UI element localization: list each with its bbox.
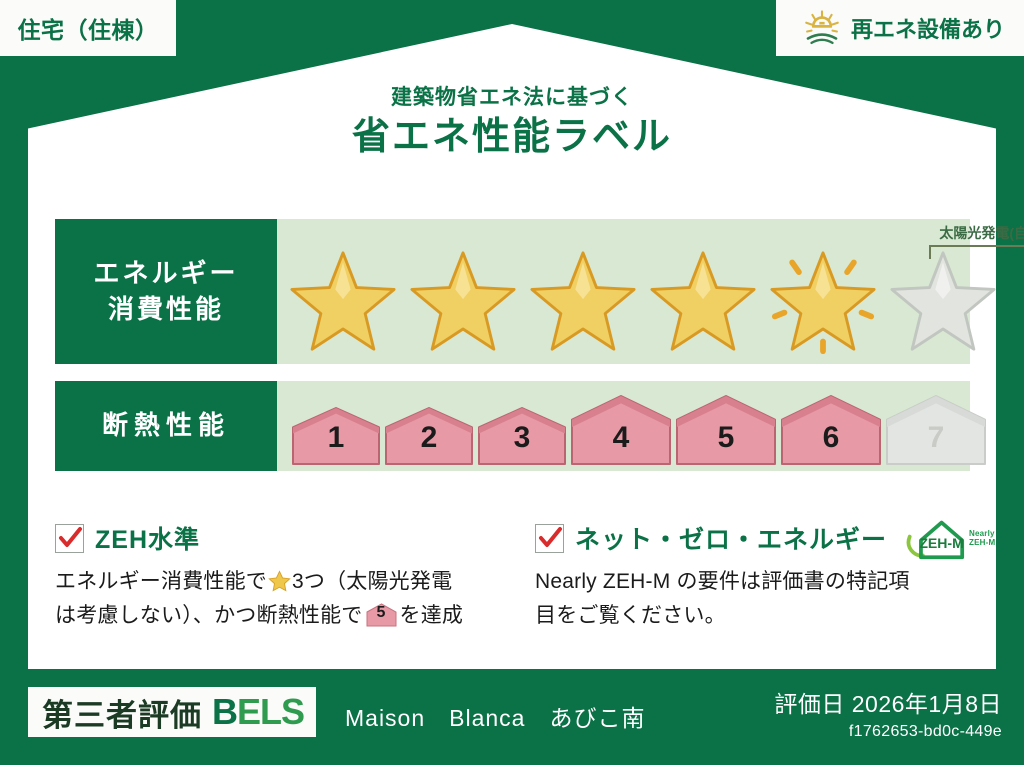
title-block: 建築物省エネ法に基づく 省エネ性能ラベル — [0, 86, 1024, 159]
insulation-performance-body: 1234567 — [277, 381, 970, 471]
solar-sun-icon — [801, 7, 843, 49]
star-rating — [277, 246, 970, 358]
insulation-level-active: 1 — [291, 405, 381, 467]
zeh-m-logo-subtext-line2: ZEH-M — [969, 538, 995, 547]
energy-performance-label-line2: 消費性能 — [108, 292, 224, 327]
energy-performance-row: エネルギー 消費性能 太陽光発電(自家消費)分 — [55, 219, 970, 364]
criteria-zeh-body-part1: エネルギー消費性能で — [55, 570, 267, 593]
zeh-m-house-icon: ZEH-M — [904, 516, 966, 561]
star-filled — [527, 249, 639, 355]
insulation-level-active: 4 — [570, 393, 672, 467]
inline-house-badge: 5 — [366, 603, 397, 627]
energy-performance-label-line1: エネルギー — [93, 256, 238, 291]
criteria-zeh: ZEH水準 エネルギー消費性能で 3つ（太陽光発電 は考慮しない）、かつ断熱性能… — [55, 520, 525, 633]
badge-building-type-label: 住宅（住棟） — [18, 11, 159, 45]
bels-letters-els: ELS — [237, 691, 304, 732]
insulation-level-active: 5 — [675, 393, 777, 467]
bels-letter-b: B — [212, 691, 237, 732]
bels-badge: 第三者評価 BELS — [28, 687, 316, 737]
criteria-zehm-body-line2: 目をご覧ください。 — [535, 604, 726, 627]
star-filled-solar — [767, 249, 879, 355]
insulation-level-number: 1 — [291, 421, 381, 455]
criteria-zehm-title: ネット・ゼロ・エネルギー — [575, 520, 887, 556]
solar-note-label: 太陽光発電(自家消費)分 — [889, 223, 1024, 243]
insulation-level-active: 6 — [780, 393, 882, 467]
insulation-performance-label: 断熱性能 — [55, 381, 277, 471]
insulation-level-inactive: 7 — [885, 393, 987, 467]
star-empty — [887, 249, 999, 355]
badge-building-type: 住宅（住棟） — [0, 0, 176, 56]
criteria-zehm-header: ネット・ゼロ・エネルギー ZEH-M Nearly ZEH-M — [535, 520, 1005, 556]
svg-text:ZEH-M: ZEH-M — [919, 534, 963, 550]
evaluation-date: 評価日 2026年1月8日 — [774, 685, 1002, 719]
insulation-level-number: 4 — [570, 421, 672, 455]
insulation-performance-row: 断熱性能 1234567 — [55, 381, 970, 471]
checkbox-zehm[interactable] — [535, 524, 564, 553]
criteria-zehm-body-line1: Nearly ZEH-M の要件は評価書の特記項 — [535, 570, 910, 593]
page-title: 省エネ性能ラベル — [0, 117, 1024, 159]
criteria-zeh-body-part3: は考慮しない）、かつ断熱性能で — [55, 604, 363, 627]
property-name: Maison Blanca あびこ南 — [345, 699, 645, 733]
evaluation-info: 評価日 2026年1月8日 f1762653-bd0c-449e — [774, 685, 1002, 741]
evaluation-id: f1762653-bd0c-449e — [774, 723, 1002, 741]
criteria-zeh-body-part2: 3つ（太陽光発電 — [292, 570, 452, 593]
zeh-m-logo: ZEH-M Nearly ZEH-M — [904, 516, 995, 561]
criteria-zehm-body: Nearly ZEH-M の要件は評価書の特記項 目をご覧ください。 — [535, 565, 1005, 633]
insulation-level-number: 7 — [885, 421, 987, 455]
criteria-zeh-body-part4: を達成 — [400, 604, 464, 627]
badge-renewable-energy-label: 再エネ設備あり — [851, 12, 1005, 44]
criteria-zehm: ネット・ゼロ・エネルギー ZEH-M Nearly ZEH-M Nearly Z… — [535, 520, 1005, 633]
energy-performance-label: エネルギー 消費性能 — [55, 219, 277, 364]
insulation-level-active: 3 — [477, 405, 567, 467]
insulation-performance-label-text: 断熱性能 — [102, 408, 230, 443]
inline-house-number: 5 — [366, 600, 397, 626]
insulation-level-number: 2 — [384, 421, 474, 455]
star-filled — [407, 249, 519, 355]
footer: 第三者評価 BELS Maison Blanca あびこ南 評価日 2026年1… — [0, 669, 1024, 765]
insulation-level-number: 3 — [477, 421, 567, 455]
star-filled — [647, 249, 759, 355]
zeh-m-logo-subtext: Nearly ZEH-M — [969, 529, 995, 547]
criteria-zeh-header: ZEH水準 — [55, 520, 525, 556]
insulation-level-active: 2 — [384, 405, 474, 467]
star-filled — [287, 249, 399, 355]
bels-badge-en-label: BELS — [212, 694, 304, 730]
insulation-level-number: 6 — [780, 421, 882, 455]
title-subtitle: 建築物省エネ法に基づく — [0, 86, 1024, 109]
badge-renewable-energy: 再エネ設備あり — [776, 0, 1024, 56]
insulation-level-number: 5 — [675, 421, 777, 455]
zeh-m-logo-subtext-line1: Nearly — [969, 529, 995, 538]
bels-badge-jp-label: 第三者評価 — [42, 690, 202, 735]
energy-performance-body: 太陽光発電(自家消費)分 — [277, 219, 970, 364]
energy-label-page: 住宅（住棟） 再エネ設備あり — [0, 0, 1024, 765]
inline-star-icon — [268, 569, 291, 591]
criteria-zeh-body: エネルギー消費性能で 3つ（太陽光発電 は考慮しない）、かつ断熱性能で 5 を達… — [55, 565, 525, 633]
criteria-section: ZEH水準 エネルギー消費性能で 3つ（太陽光発電 は考慮しない）、かつ断熱性能… — [55, 520, 985, 633]
insulation-level-scale: 1234567 — [277, 389, 970, 467]
checkbox-zeh[interactable] — [55, 524, 84, 553]
criteria-zeh-title: ZEH水準 — [95, 520, 200, 556]
